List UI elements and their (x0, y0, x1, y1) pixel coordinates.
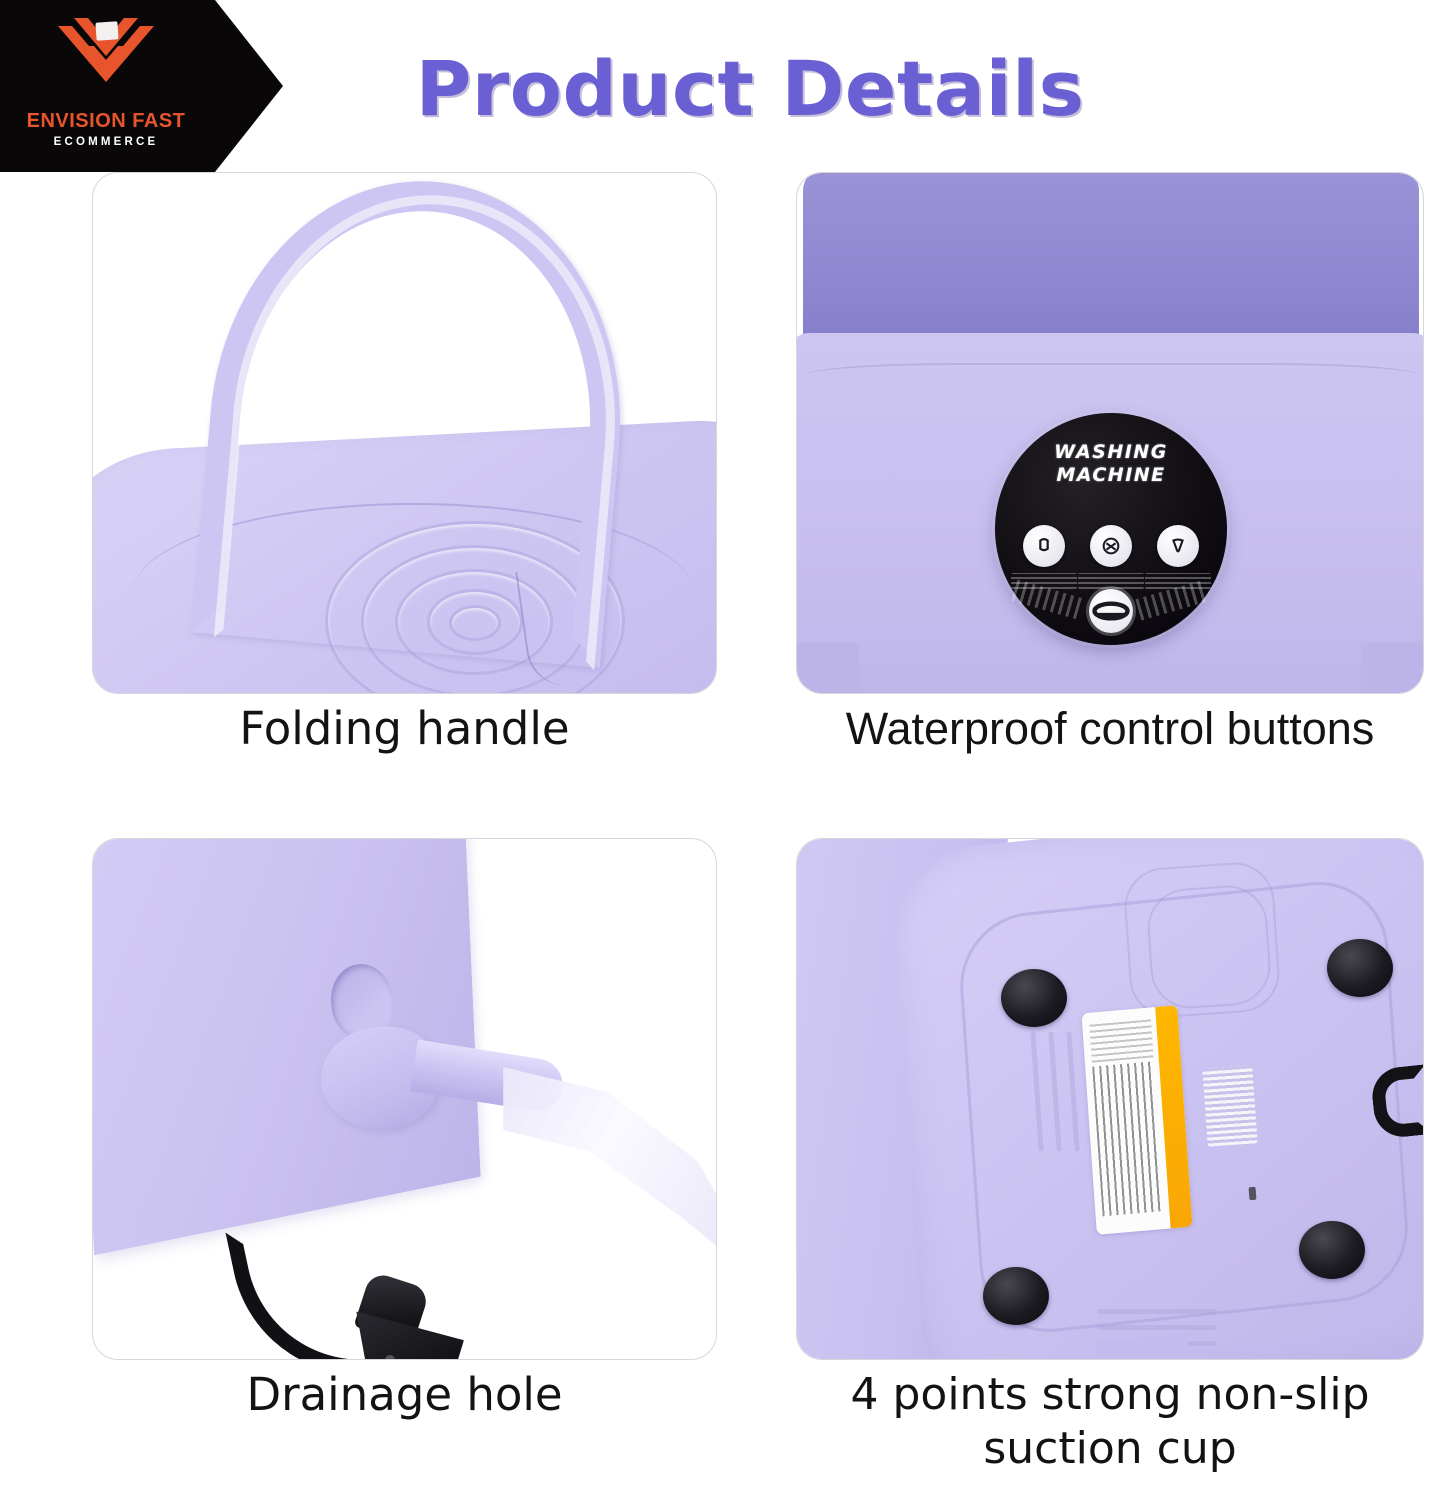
label-barcode (1092, 1061, 1164, 1216)
base-rib (1097, 1325, 1217, 1330)
suction-cup (1299, 1221, 1365, 1279)
product-label (1081, 1005, 1192, 1235)
drain-icon-button[interactable] (1157, 525, 1199, 567)
page-title: Product Details (300, 38, 1200, 138)
envision-chevron-logo-icon (52, 12, 160, 104)
control-panel-title: WASHING MACHINE (995, 441, 1227, 487)
spin-wash-button-label (1078, 573, 1144, 589)
photo-drainage-hole (92, 838, 717, 1360)
detail-cell-control-buttons: WASHING MACHINE (796, 172, 1424, 832)
caption-drainage-hole: Drainage hole (92, 1368, 717, 1421)
timer-icon (1089, 589, 1133, 633)
shell-foot-left (797, 643, 859, 693)
label-text-block (1089, 1015, 1154, 1062)
suction-cup (1001, 969, 1067, 1027)
power-icon-button[interactable] (1023, 525, 1065, 567)
brand-name: ENVISION FAST (27, 110, 186, 133)
control-panel[interactable]: WASHING MACHINE (995, 413, 1227, 645)
drain-plug-hole (385, 1355, 395, 1359)
details-grid: Folding handle WASHING MACHINE (0, 172, 1436, 1500)
detail-cell-drainage-hole: Drainage hole (92, 838, 717, 1500)
spin-wash-icon-button[interactable] (1090, 525, 1132, 567)
timer-icon-button[interactable] (1089, 589, 1133, 633)
caption-suction-cups-line2: suction cup (983, 1423, 1236, 1474)
base-vent-dot (1249, 1187, 1257, 1200)
detail-cell-suction-cups: 4 points strong non-slip suction cup (796, 838, 1424, 1500)
suction-cup (1327, 939, 1393, 997)
photo-folding-handle (92, 172, 717, 694)
caption-folding-handle: Folding handle (92, 702, 717, 755)
control-panel-title-line2: MACHINE (1056, 464, 1165, 486)
brand-tagline: ECOMMERCE (54, 136, 159, 148)
machine-top-lid (803, 173, 1419, 347)
control-panel-title-line1: WASHING (1054, 441, 1168, 463)
brand-banner: ENVISION FAST ECOMMERCE (0, 0, 283, 172)
spin-wash-icon (1100, 535, 1122, 557)
product-details-page: ENVISION FAST ECOMMERCE Product Details (0, 0, 1436, 1500)
photo-suction-cups (796, 838, 1424, 1360)
shell-lip (803, 363, 1421, 389)
label-qr-sticker (1202, 1065, 1257, 1146)
power-icon (1033, 535, 1055, 557)
page-header: ENVISION FAST ECOMMERCE Product Details (0, 0, 1436, 175)
control-button-row (995, 525, 1227, 567)
detail-cell-folding-handle: Folding handle (92, 172, 717, 832)
caption-suction-cups-line1: 4 points strong non-slip (851, 1369, 1370, 1420)
photo-control-buttons: WASHING MACHINE (796, 172, 1424, 694)
caption-control-buttons: Waterproof control buttons (796, 702, 1424, 755)
water-stream (503, 1067, 716, 1277)
caption-suction-cups: 4 points strong non-slip suction cup (796, 1368, 1424, 1475)
shell-foot-right (1361, 643, 1423, 693)
drain-icon (1167, 535, 1189, 557)
suction-cup (983, 1267, 1049, 1325)
